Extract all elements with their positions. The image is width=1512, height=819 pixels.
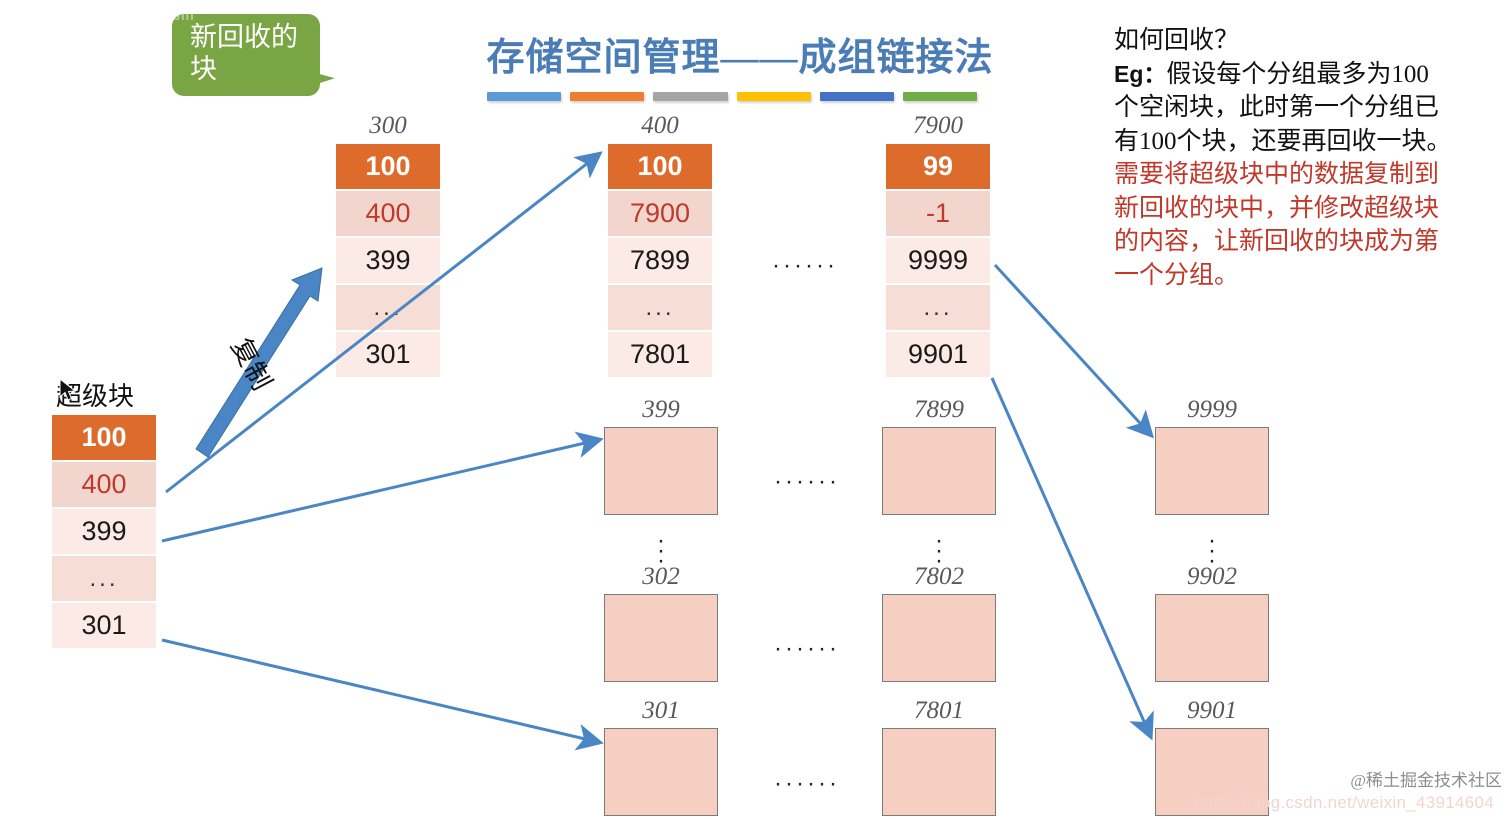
block-table-400: 400 100 7900 7899 ... 7801 — [608, 112, 712, 379]
top-ellipsis-1: ······ — [772, 252, 838, 280]
free-block-box-7899 — [882, 427, 996, 515]
notes-panel: 如何回收？ Eg：假设每个分组最多为100 个空闲块，此时第一个分组已 有100… — [1114, 24, 1512, 292]
free-block-box-7801 — [882, 728, 996, 816]
superblock-entry-last: 301 — [52, 603, 156, 650]
block-300-entry-1: 399 — [336, 238, 440, 285]
block-caption-7900: 7900 — [886, 112, 990, 140]
page-title: 存储空间管理——成组链接法 — [440, 26, 1040, 81]
free-block-vdots-2: ··· — [882, 536, 996, 566]
notes-eg-text: 假设每个分组最多为100 — [1166, 61, 1429, 88]
superblock-next-ptr: 400 — [52, 462, 156, 509]
url-watermark: https://blog.csdn.net/weixin_43914604 — [1194, 793, 1494, 813]
title-bar-2 — [570, 92, 644, 101]
block-7900-entry-1: 9999 — [886, 238, 990, 285]
title-bar-5 — [820, 92, 894, 101]
free-block-399: 399 — [604, 396, 718, 515]
block-400-count: 100 — [608, 144, 712, 191]
superblock-count: 100 — [52, 415, 156, 462]
grid-ellipsis-row-2: ······ — [774, 635, 840, 663]
free-block-vdots-1: ··· — [604, 536, 718, 566]
title-underline-bars — [487, 92, 977, 101]
block-7900-entry-last: 9901 — [886, 332, 990, 379]
free-block-caption-7899: 7899 — [882, 396, 996, 424]
block-7900-next-ptr: -1 — [886, 191, 990, 238]
block-400-next-ptr: 7900 — [608, 191, 712, 238]
superblock-table: 100 400 399 ... 301 — [52, 415, 156, 650]
notes-red-line-2: 新回收的块中，并修改超级块 — [1114, 192, 1512, 226]
bilibili-watermark: bili — [172, 8, 282, 52]
free-block-9999: 9999 — [1155, 396, 1269, 515]
free-block-box-302 — [604, 594, 718, 682]
block-300-next-ptr: 400 — [336, 191, 440, 238]
block-table-300: 300 100 400 399 ... 301 — [336, 112, 440, 379]
free-block-caption-9901: 9901 — [1155, 697, 1269, 725]
notes-line-3: 个空闲块，此时第一个分组已 — [1114, 91, 1512, 125]
free-block-7802: 7802 — [882, 563, 996, 682]
slide-canvas: 存储空间管理——成组链接法 新回收的块 bili 如何回收？ Eg：假设每个分组… — [0, 0, 1512, 819]
mouse-cursor-icon — [58, 378, 80, 404]
free-block-box-301 — [604, 728, 718, 816]
free-block-caption-9902: 9902 — [1155, 563, 1269, 591]
notes-line-1: 如何回收？ — [1114, 24, 1512, 58]
block-7900-entry-ellipsis: ... — [886, 285, 990, 332]
notes-line-2: Eg：假设每个分组最多为100 — [1114, 58, 1512, 92]
free-block-9902: 9902 — [1155, 563, 1269, 682]
free-block-7801: 7801 — [882, 697, 996, 816]
title-bar-1 — [487, 92, 561, 101]
free-block-caption-301: 301 — [604, 697, 718, 725]
free-block-caption-7801: 7801 — [882, 697, 996, 725]
free-block-caption-7802: 7802 — [882, 563, 996, 591]
block-300-entry-last: 301 — [336, 332, 440, 379]
block-300-entry-ellipsis: ... — [336, 285, 440, 332]
superblock-entry-ellipsis: ... — [52, 556, 156, 603]
notes-red-line-4: 一个分组。 — [1114, 259, 1512, 293]
notes-line-4: 有100个块，还要再回收一块。 — [1114, 125, 1512, 159]
free-block-caption-9999: 9999 — [1155, 396, 1269, 424]
free-block-7899: 7899 — [882, 396, 996, 515]
title-bar-4 — [737, 92, 811, 101]
block-caption-300: 300 — [336, 112, 440, 140]
free-block-vdots-3: ··· — [1155, 536, 1269, 566]
free-block-box-9902 — [1155, 594, 1269, 682]
block-400-entry-1: 7899 — [608, 238, 712, 285]
free-block-301: 301 — [604, 697, 718, 816]
free-block-caption-399: 399 — [604, 396, 718, 424]
block-300-count: 100 — [336, 144, 440, 191]
title-bar-3 — [653, 92, 727, 101]
copy-arrow-label: 复制 — [224, 330, 284, 396]
free-block-box-9999 — [1155, 427, 1269, 515]
notes-red-line-1: 需要将超级块中的数据复制到 — [1114, 158, 1512, 192]
arrow-super-399-to-free399 — [162, 440, 598, 541]
free-block-caption-302: 302 — [604, 563, 718, 591]
grid-ellipsis-row-3: ······ — [774, 770, 840, 798]
free-block-box-399 — [604, 427, 718, 515]
grid-ellipsis-row-1: ······ — [774, 468, 840, 496]
block-400-entry-ellipsis: ... — [608, 285, 712, 332]
block-caption-400: 400 — [608, 112, 712, 140]
superblock-entry-1: 399 — [52, 509, 156, 556]
arrow-7900-9901-to-free9901 — [992, 378, 1150, 735]
notes-eg-label: Eg： — [1114, 61, 1166, 87]
free-block-box-7802 — [882, 594, 996, 682]
block-7900-count: 99 — [886, 144, 990, 191]
arrow-super-301-to-free301 — [162, 640, 598, 742]
notes-red-line-3: 的内容，让新回收的块成为第 — [1114, 225, 1512, 259]
title-bar-6 — [903, 92, 977, 101]
block-400-entry-last: 7801 — [608, 332, 712, 379]
brand-watermark: @稀土掘金技术社区 — [1350, 766, 1502, 791]
block-table-7900: 7900 99 -1 9999 ... 9901 — [886, 112, 990, 379]
new-recycled-block-callout: 新回收的块 bili — [172, 14, 320, 104]
free-block-302: 302 — [604, 563, 718, 682]
